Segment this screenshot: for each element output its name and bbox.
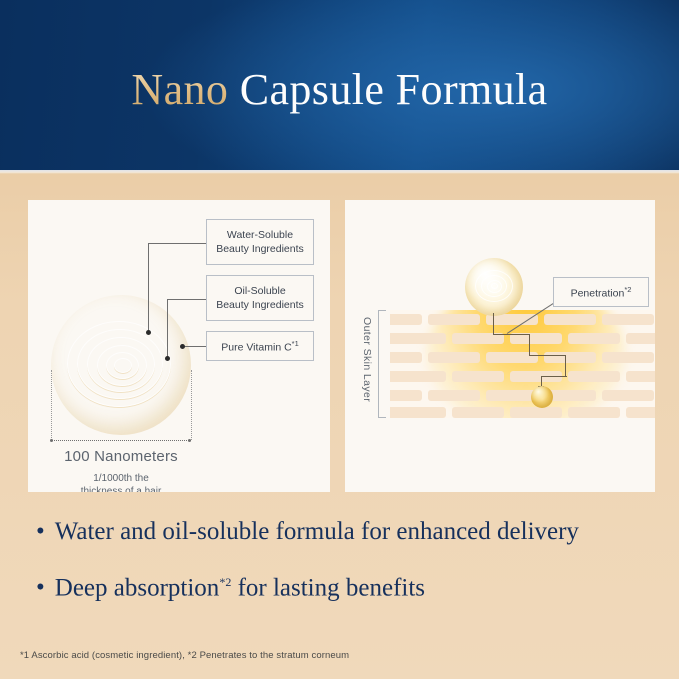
path-segment-5 <box>565 355 566 377</box>
measure-tick-left <box>51 370 52 440</box>
anchor-dot-oil <box>165 356 170 361</box>
label-penetration[interactable]: Penetration*2 <box>553 277 649 307</box>
surface-droplet <box>465 258 523 316</box>
label-vitc-footnote-ref: *1 <box>292 339 299 348</box>
label-pure-vitamin-c[interactable]: Pure Vitamin C*1 <box>206 331 314 361</box>
path-segment-3 <box>529 334 530 356</box>
bullet-footnote-ref-2: *2 <box>219 575 231 589</box>
label-penetration-text: Penetration <box>571 288 625 300</box>
leader-line-water-horizontal <box>148 243 206 244</box>
scale-sub-line1: 1/1000th the <box>93 473 149 484</box>
leader-line-vitc-horizontal <box>183 346 206 347</box>
absorption-glow <box>426 310 626 418</box>
anchor-dot-water <box>146 330 151 335</box>
footnote-text: *1 Ascorbic acid (cosmetic ingredient), … <box>20 650 349 661</box>
scale-sub-line2: thickness of a hair <box>81 486 162 492</box>
label-water-line2: Beauty Ingredients <box>216 243 304 255</box>
title-word-nano: Nano <box>131 65 228 114</box>
bullet-marker-2: • <box>36 574 45 601</box>
bullet-item-2: •Deep absorption*2 for lasting benefits <box>36 565 656 605</box>
label-vitc-text: Pure Vitamin C <box>221 342 291 354</box>
penetrated-droplet <box>531 386 553 408</box>
outer-skin-layer-label: Outer Skin Layer <box>361 317 373 402</box>
title-words-capsule-formula: Capsule Formula <box>240 65 548 114</box>
bullet-item-1: •Water and oil-soluble formula for enhan… <box>36 515 656 549</box>
scale-sub-label: 1/1000th the thickness of a hair <box>41 472 201 492</box>
panel-nano-capsule-structure: Water-Soluble Beauty Ingredients Oil-Sol… <box>28 200 330 492</box>
path-segment-1 <box>493 313 494 335</box>
bullet-marker-1: • <box>36 518 45 545</box>
leader-line-water-vertical <box>148 243 149 333</box>
header-banner: Nano Capsule Formula <box>0 0 679 170</box>
bullet-text-1: Water and oil-soluble formula for enhanc… <box>55 518 579 545</box>
measure-span-line <box>51 440 191 441</box>
label-oil-line1: Oil-Soluble <box>234 285 285 297</box>
leader-line-oil-horizontal <box>167 299 206 300</box>
leader-line-oil-vertical <box>167 299 168 359</box>
infographic-page: Nano Capsule Formula Water-Soluble Beaut… <box>0 0 679 679</box>
outer-skin-layer-graphic <box>390 310 655 418</box>
skin-layer-bracket <box>378 310 386 418</box>
measure-cap-left <box>49 438 54 443</box>
path-segment-6 <box>541 376 567 377</box>
label-penetration-footnote-ref: *2 <box>624 285 631 294</box>
label-water-line1: Water-Soluble <box>227 229 293 241</box>
path-segment-2 <box>493 334 530 335</box>
measure-cap-right <box>187 438 192 443</box>
path-segment-4 <box>529 355 566 356</box>
label-oil-line2: Beauty Ingredients <box>216 299 304 311</box>
scale-value-label: 100 Nanometers <box>41 448 201 465</box>
header-divider <box>0 170 679 174</box>
bullet-text-2: Deep absorption <box>55 574 220 601</box>
anchor-dot-vitc <box>180 344 185 349</box>
label-water-soluble[interactable]: Water-Soluble Beauty Ingredients <box>206 219 314 265</box>
benefit-bullet-list: •Water and oil-soluble formula for enhan… <box>36 515 656 621</box>
label-oil-soluble[interactable]: Oil-Soluble Beauty Ingredients <box>206 275 314 321</box>
nano-capsule-droplet <box>51 295 191 435</box>
panel-penetration-diagram: Outer Skin Layer Penetration*2 <box>345 200 655 492</box>
measure-tick-right <box>191 370 192 440</box>
bullet-text-2-tail: for lasting benefits <box>231 574 425 601</box>
page-title: Nano Capsule Formula <box>0 62 679 118</box>
